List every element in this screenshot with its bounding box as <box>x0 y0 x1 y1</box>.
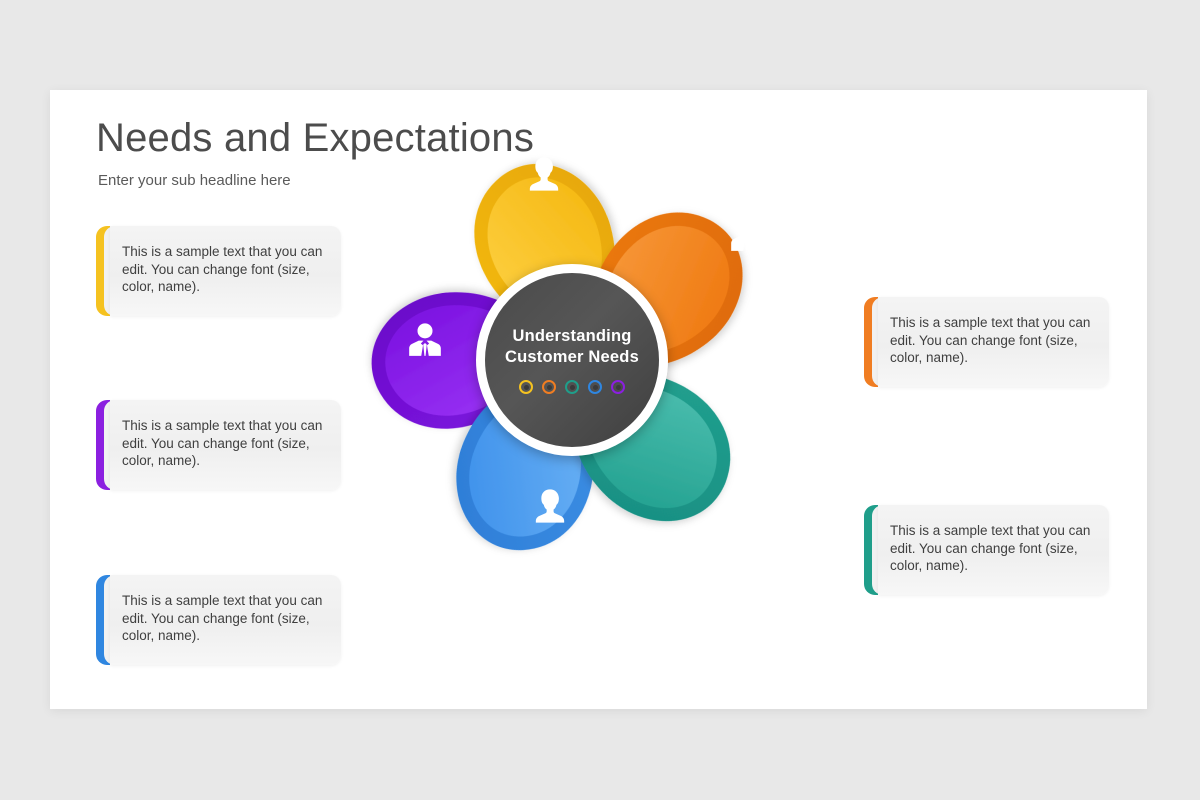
dot-yellow[interactable] <box>519 380 533 394</box>
callout-left-3[interactable]: This is a sample text that you can edit.… <box>96 575 341 665</box>
callout-left-1[interactable]: This is a sample text that you can edit.… <box>96 226 341 316</box>
callout-text: This is a sample text that you can edit.… <box>890 314 1097 367</box>
callout-text: This is a sample text that you can edit.… <box>122 592 329 645</box>
center-hub[interactable]: Understanding Customer Needs <box>476 264 668 456</box>
page-subtitle: Enter your sub headline here <box>98 172 291 189</box>
dot-orange[interactable] <box>542 380 556 394</box>
callout-right-1[interactable]: This is a sample text that you can edit.… <box>864 297 1109 387</box>
callout-left-2[interactable]: This is a sample text that you can edit.… <box>96 400 341 490</box>
center-title-line2: Customer Needs <box>505 347 639 368</box>
dot-purple[interactable] <box>611 380 625 394</box>
dot-teal[interactable] <box>565 380 579 394</box>
center-dot-row <box>519 380 625 394</box>
person-male-tie-icon <box>731 218 763 251</box>
center-title-line1: Understanding <box>512 326 631 347</box>
callout-text: This is a sample text that you can edit.… <box>122 243 329 296</box>
dot-blue[interactable] <box>588 380 602 394</box>
person-female-icon <box>732 423 760 456</box>
callout-right-2[interactable]: This is a sample text that you can edit.… <box>864 505 1109 595</box>
callout-text: This is a sample text that you can edit.… <box>890 522 1097 575</box>
callout-text: This is a sample text that you can edit.… <box>122 417 329 470</box>
